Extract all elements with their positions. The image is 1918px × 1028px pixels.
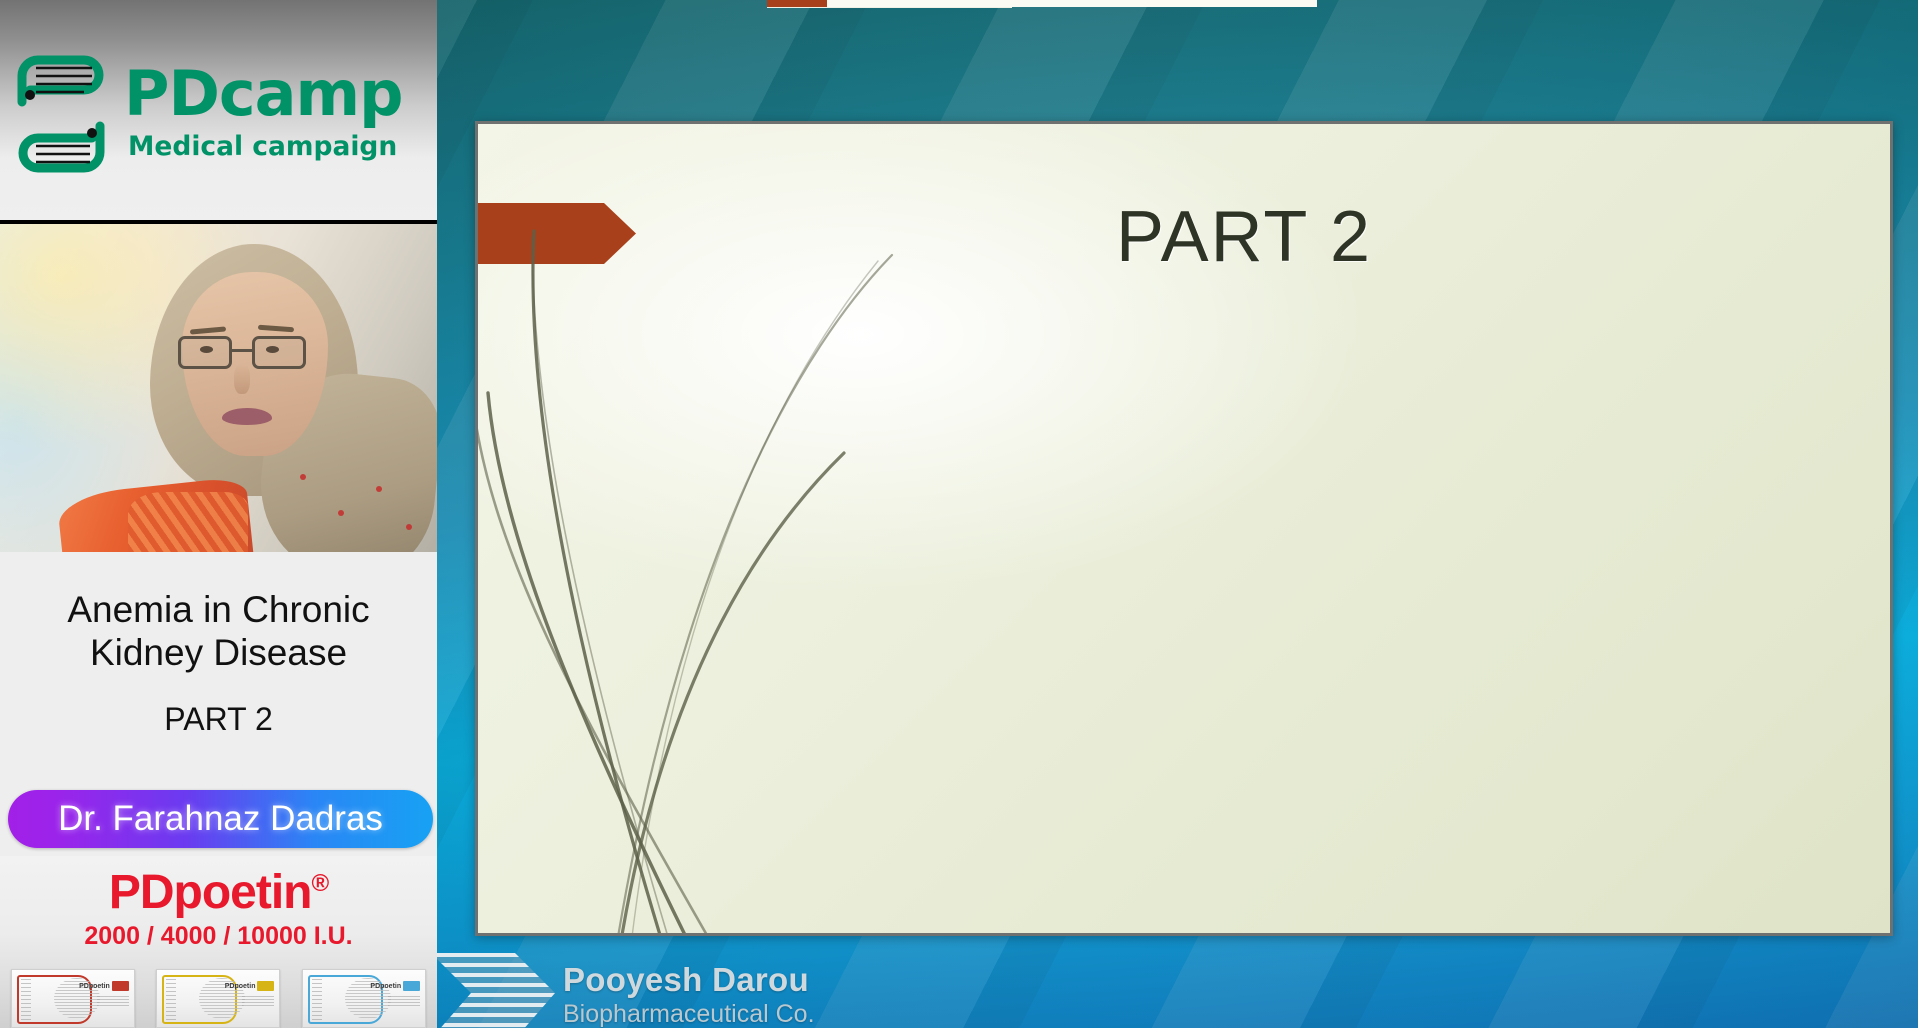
brand-title: PDcamp [124,64,402,124]
lecture-title: Anemia in Chronic Kidney Disease [0,588,437,675]
brand-subtitle: Medical campaign [128,131,402,162]
speaker-name-badge: Dr. Farahnaz Dadras [8,790,433,848]
speaker-nose [234,364,250,394]
document-lines-icon [8,46,114,182]
speaker-mouth [222,408,272,425]
product-box-row: PDpoetin PDpoetin PDpoetin [0,969,437,1028]
sidebar: PDcamp Medical campaign [0,0,437,1028]
lecture-info: Anemia in Chronic Kidney Disease PART 2 [0,552,437,786]
speaker-name-text: Dr. Farahnaz Dadras [58,799,383,839]
scarf-dot [376,486,382,492]
product-promo: PDpoetin® 2000 / 4000 / 10000 I.U. PDpoe… [0,856,437,1028]
company-subtitle: Biopharmaceutical Co. [563,1000,815,1028]
lecture-part-label: PART 2 [0,701,437,738]
scarf-dot [300,474,306,480]
product-box-brand: PDpoetin [79,983,110,990]
speaker-clothing-pattern [128,492,248,552]
trademark-symbol: ® [311,870,328,897]
product-box: PDpoetin [302,969,426,1028]
speaker-video[interactable] [0,224,437,552]
webinar-screen: PDcamp Medical campaign [0,0,1918,1028]
company-footer: Pooyesh Darou Biopharmaceutical Co. [437,942,1067,1028]
company-text: Pooyesh Darou Biopharmaceutical Co. [563,963,815,1028]
product-box: PDpoetin [156,969,280,1028]
slide-stage: PART 2 [437,0,1918,1028]
product-box-brand: PDpoetin [225,983,256,990]
brand-header: PDcamp Medical campaign [0,0,437,220]
scarf-dot [338,510,344,516]
product-box: PDpoetin [11,969,135,1028]
product-doses: 2000 / 4000 / 10000 I.U. [0,922,437,951]
product-name-text: PDpoetin [109,866,312,919]
brand-text: PDcamp Medical campaign [124,64,402,162]
grass-stems-decoration [475,197,912,936]
product-name: PDpoetin® [0,865,437,920]
product-box-brand: PDpoetin [370,983,401,990]
previous-slide-accent [767,0,827,7]
company-name: Pooyesh Darou [563,963,815,998]
striped-chevron-icon [437,947,559,1028]
scarf-dot [406,524,412,530]
presentation-slide[interactable]: PART 2 [475,121,1893,936]
previous-slide-sliver-right [827,0,1317,7]
